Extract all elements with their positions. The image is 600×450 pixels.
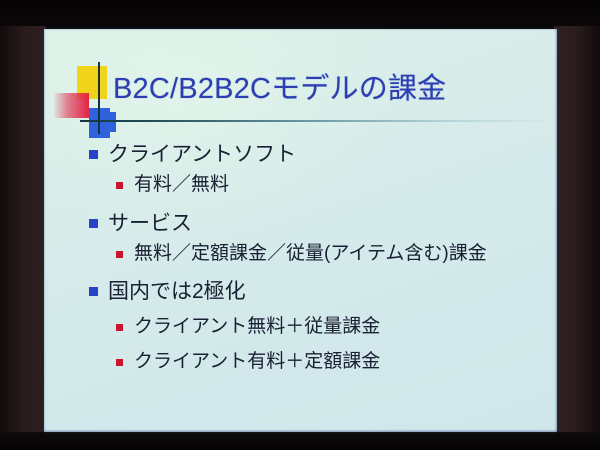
sub-bullet-square-icon [116,182,123,189]
slide-logo-decoration [54,62,120,134]
group-spacer [44,269,557,276]
bullet-level1-label: サービス [108,208,192,239]
bullet-level2: クライアント有料＋定額課金 [44,347,557,377]
bullet-level2-label: クライアント有料＋定額課金 [134,347,380,377]
bullet-square-icon [89,150,98,159]
bullet-level1: サービス [44,208,557,239]
sub-bullet-square-icon [116,359,123,366]
slide-body: クライアントソフト 有料／無料 サービス 無料／定額課金／従量(アイテム含む)課… [44,139,557,377]
bullet-group-2: サービス 無料／定額課金／従量(アイテム含む)課金 [44,208,557,269]
bullet-level2: 無料／定額課金／従量(アイテム含む)課金 [44,239,557,269]
room-shadow-bottom [0,432,600,450]
bullet-level2: クライアント無料＋従量課金 [44,312,557,342]
projection-room: B2C/B2B2Cモデルの課金 クライアントソフト 有料／無料 サービス [0,0,600,450]
bullet-level2-label: クライアント無料＋従量課金 [134,312,380,342]
room-shadow-top [0,0,600,28]
presentation-slide: B2C/B2B2Cモデルの課金 クライアントソフト 有料／無料 サービス [44,29,557,432]
bullet-level1-label: クライアントソフト [108,139,296,170]
sub-bullet-square-icon [116,251,123,258]
sub-bullet-square-icon [116,324,123,331]
logo-red-square [54,93,89,118]
bullet-square-icon [89,219,98,228]
bullet-level2: 有料／無料 [44,170,557,200]
bullet-level2-label: 無料／定額課金／従量(アイテム含む)課金 [134,239,487,269]
bullet-level1-label: 国内では2極化 [108,276,246,307]
bullet-group-1: クライアントソフト 有料／無料 [44,139,557,200]
room-shadow-right [554,26,600,438]
slide-title: B2C/B2B2Cモデルの課金 [113,72,446,106]
group-spacer [44,200,557,208]
title-underline-rule [80,120,545,122]
bullet-group-3: 国内では2極化 クライアント無料＋従量課金 クライアント有料＋定額課金 [44,276,557,377]
logo-vertical-line [98,62,100,134]
bullet-level2-label: 有料／無料 [134,170,229,200]
bullet-level1: クライアントソフト [44,139,557,170]
room-shadow-left [0,26,46,436]
bullet-square-icon [89,287,98,296]
bullet-level1: 国内では2極化 [44,276,557,307]
